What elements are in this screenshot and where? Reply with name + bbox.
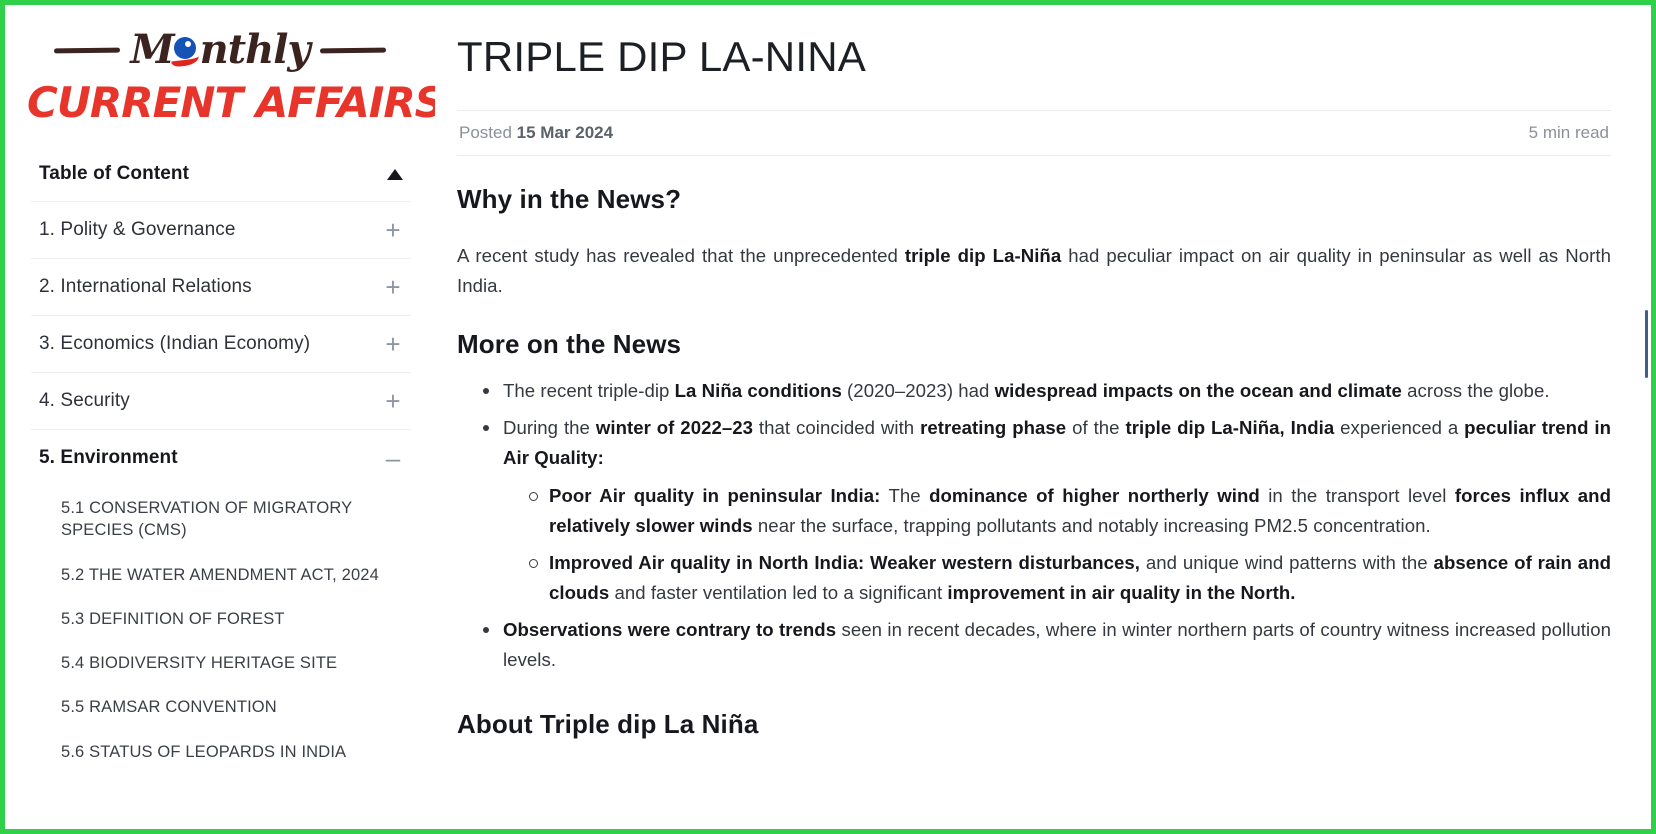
news-bullet-list: The recent triple-dip La Niña conditions… bbox=[457, 376, 1611, 675]
list-item: Poor Air quality in peninsular India: Th… bbox=[527, 481, 1611, 541]
sidebar-item-environment[interactable]: 5. Environment – bbox=[31, 429, 411, 486]
sub1-b: in the transport level bbox=[1260, 485, 1455, 506]
sub1-bold-dominance: dominance of higher northerly wind bbox=[929, 485, 1260, 506]
sidebar-item-label: 5. Environment bbox=[39, 447, 178, 469]
sidebar-item-security[interactable]: 4. Security + bbox=[31, 372, 411, 429]
intro-paragraph: A recent study has revealed that the unp… bbox=[457, 241, 1611, 301]
intro-bold-triple-dip: triple dip La-Niña bbox=[905, 245, 1061, 266]
logo-current-affairs: CURRENT AFFAIRS bbox=[27, 81, 413, 125]
section-heading-why-in-the-news: Why in the News? bbox=[457, 184, 1611, 215]
sidebar-item-label: 1. Polity & Governance bbox=[39, 219, 236, 241]
news-sub-bullet-list: Poor Air quality in peninsular India: Th… bbox=[503, 481, 1611, 608]
sidebar-item-label: 3. Economics (Indian Economy) bbox=[39, 333, 310, 355]
bullet1-bold-lanina-conditions: La Niña conditions bbox=[675, 380, 842, 401]
list-item: During the winter of 2022–23 that coinci… bbox=[481, 413, 1611, 608]
plus-icon[interactable]: + bbox=[383, 338, 403, 350]
plus-icon[interactable]: + bbox=[383, 395, 403, 407]
page-root: Mnthly CURRENT AFFAIRS Table of Content … bbox=[0, 0, 1656, 834]
table-of-content: Table of Content 1. Polity & Governance … bbox=[5, 155, 435, 774]
bullet1-b: (2020–2023) had bbox=[842, 380, 995, 401]
list-item: The recent triple-dip La Niña conditions… bbox=[481, 376, 1611, 406]
section-heading-about-triple-dip: About Triple dip La Niña bbox=[457, 709, 1611, 740]
sub1-a: The bbox=[880, 485, 929, 506]
intro-a: A recent study has revealed that the unp… bbox=[457, 245, 905, 266]
bullet2-bold-retreating-phase: retreating phase bbox=[920, 417, 1066, 438]
sub1-bold-poor-air-quality: Poor Air quality in peninsular India: bbox=[549, 485, 880, 506]
sub2-bold-improvement-north: improvement in air quality in the North. bbox=[947, 582, 1295, 603]
logo-monthly-row: Mnthly bbox=[27, 21, 413, 79]
logo-monthly-prefix: M bbox=[130, 26, 171, 73]
sidebar-item-label: 2. International Relations bbox=[39, 276, 252, 298]
bullet1-c: across the globe. bbox=[1402, 380, 1550, 401]
sidebar-subitem-ramsar-convention[interactable]: 5.5 RAMSAR CONVENTION bbox=[61, 685, 403, 729]
vertical-scrollbar-thumb[interactable] bbox=[1645, 310, 1648, 378]
list-item: Improved Air quality in North India: Wea… bbox=[527, 548, 1611, 608]
sub2-bold-improved-air-quality: Improved Air quality in North India: Wea… bbox=[549, 552, 1140, 573]
logo-rule-right bbox=[320, 47, 386, 53]
logo-monthly-text: Mnthly bbox=[130, 30, 309, 70]
sidebar: Mnthly CURRENT AFFAIRS Table of Content … bbox=[5, 5, 435, 829]
plus-icon[interactable]: + bbox=[383, 224, 403, 236]
bullet2-d: experienced a bbox=[1334, 417, 1464, 438]
toc-title: Table of Content bbox=[39, 163, 189, 185]
caret-up-icon[interactable] bbox=[387, 169, 403, 180]
bullet1-a: The recent triple-dip bbox=[503, 380, 675, 401]
plus-icon[interactable]: + bbox=[383, 281, 403, 293]
page-inner: Mnthly CURRENT AFFAIRS Table of Content … bbox=[5, 5, 1651, 829]
article-content: TRIPLE DIP LA-NINA Posted 15 Mar 2024 5 … bbox=[435, 5, 1651, 829]
sidebar-item-international-relations[interactable]: 2. International Relations + bbox=[31, 258, 411, 315]
bullet2-a: During the bbox=[503, 417, 596, 438]
sidebar-item-economics[interactable]: 3. Economics (Indian Economy) + bbox=[31, 315, 411, 372]
bullet2-bold-triple-dip-india: triple dip La-Niña, India bbox=[1125, 417, 1334, 438]
bullet2-c: of the bbox=[1066, 417, 1125, 438]
toc-header[interactable]: Table of Content bbox=[31, 155, 411, 201]
sidebar-subitem-cms[interactable]: 5.1 CONSERVATION OF MIGRATORY SPECIES (C… bbox=[61, 486, 403, 553]
bullet2-bold-winter: winter of 2022–23 bbox=[596, 417, 753, 438]
sidebar-subitem-status-of-leopards[interactable]: 5.6 STATUS OF LEOPARDS IN INDIA bbox=[61, 730, 403, 774]
sub2-b: and faster ventilation led to a signific… bbox=[609, 582, 947, 603]
sidebar-item-label: 4. Security bbox=[39, 390, 130, 412]
sub1-c: near the surface, trapping pollutants an… bbox=[753, 515, 1431, 536]
read-time: 5 min read bbox=[1529, 123, 1609, 143]
sidebar-item-polity-governance[interactable]: 1. Polity & Governance + bbox=[31, 201, 411, 258]
minus-icon[interactable]: – bbox=[383, 452, 403, 464]
bullet1-bold-widespread-impacts: widespread impacts on the ocean and clim… bbox=[995, 380, 1402, 401]
sidebar-subitem-water-amendment-act[interactable]: 5.2 THE WATER AMENDMENT ACT, 2024 bbox=[61, 553, 403, 597]
sidebar-subitem-definition-of-forest[interactable]: 5.3 DEFINITION OF FOREST bbox=[61, 597, 403, 641]
sub2-a: and unique wind patterns with the bbox=[1140, 552, 1434, 573]
posted-label: Posted bbox=[459, 123, 512, 142]
page-title: TRIPLE DIP LA-NINA bbox=[457, 23, 1611, 80]
logo-rule-left bbox=[54, 47, 120, 53]
bullet3-bold-observations: Observations were contrary to trends bbox=[503, 619, 836, 640]
logo-monthly-suffix: nthly bbox=[200, 26, 310, 73]
section-heading-more-on-the-news: More on the News bbox=[457, 329, 1611, 360]
posted-date: Posted 15 Mar 2024 bbox=[459, 123, 613, 143]
brand-logo[interactable]: Mnthly CURRENT AFFAIRS bbox=[5, 5, 435, 129]
bullet2-b: that coincided with bbox=[753, 417, 920, 438]
posted-date-value: 15 Mar 2024 bbox=[517, 123, 613, 142]
environment-subitems: 5.1 CONSERVATION OF MIGRATORY SPECIES (C… bbox=[31, 486, 411, 774]
article-meta: Posted 15 Mar 2024 5 min read bbox=[457, 110, 1611, 156]
sidebar-subitem-biodiversity-heritage-site[interactable]: 5.4 BIODIVERSITY HERITAGE SITE bbox=[61, 641, 403, 685]
list-item: Observations were contrary to trends see… bbox=[481, 615, 1611, 675]
globe-dot-icon bbox=[171, 37, 201, 67]
